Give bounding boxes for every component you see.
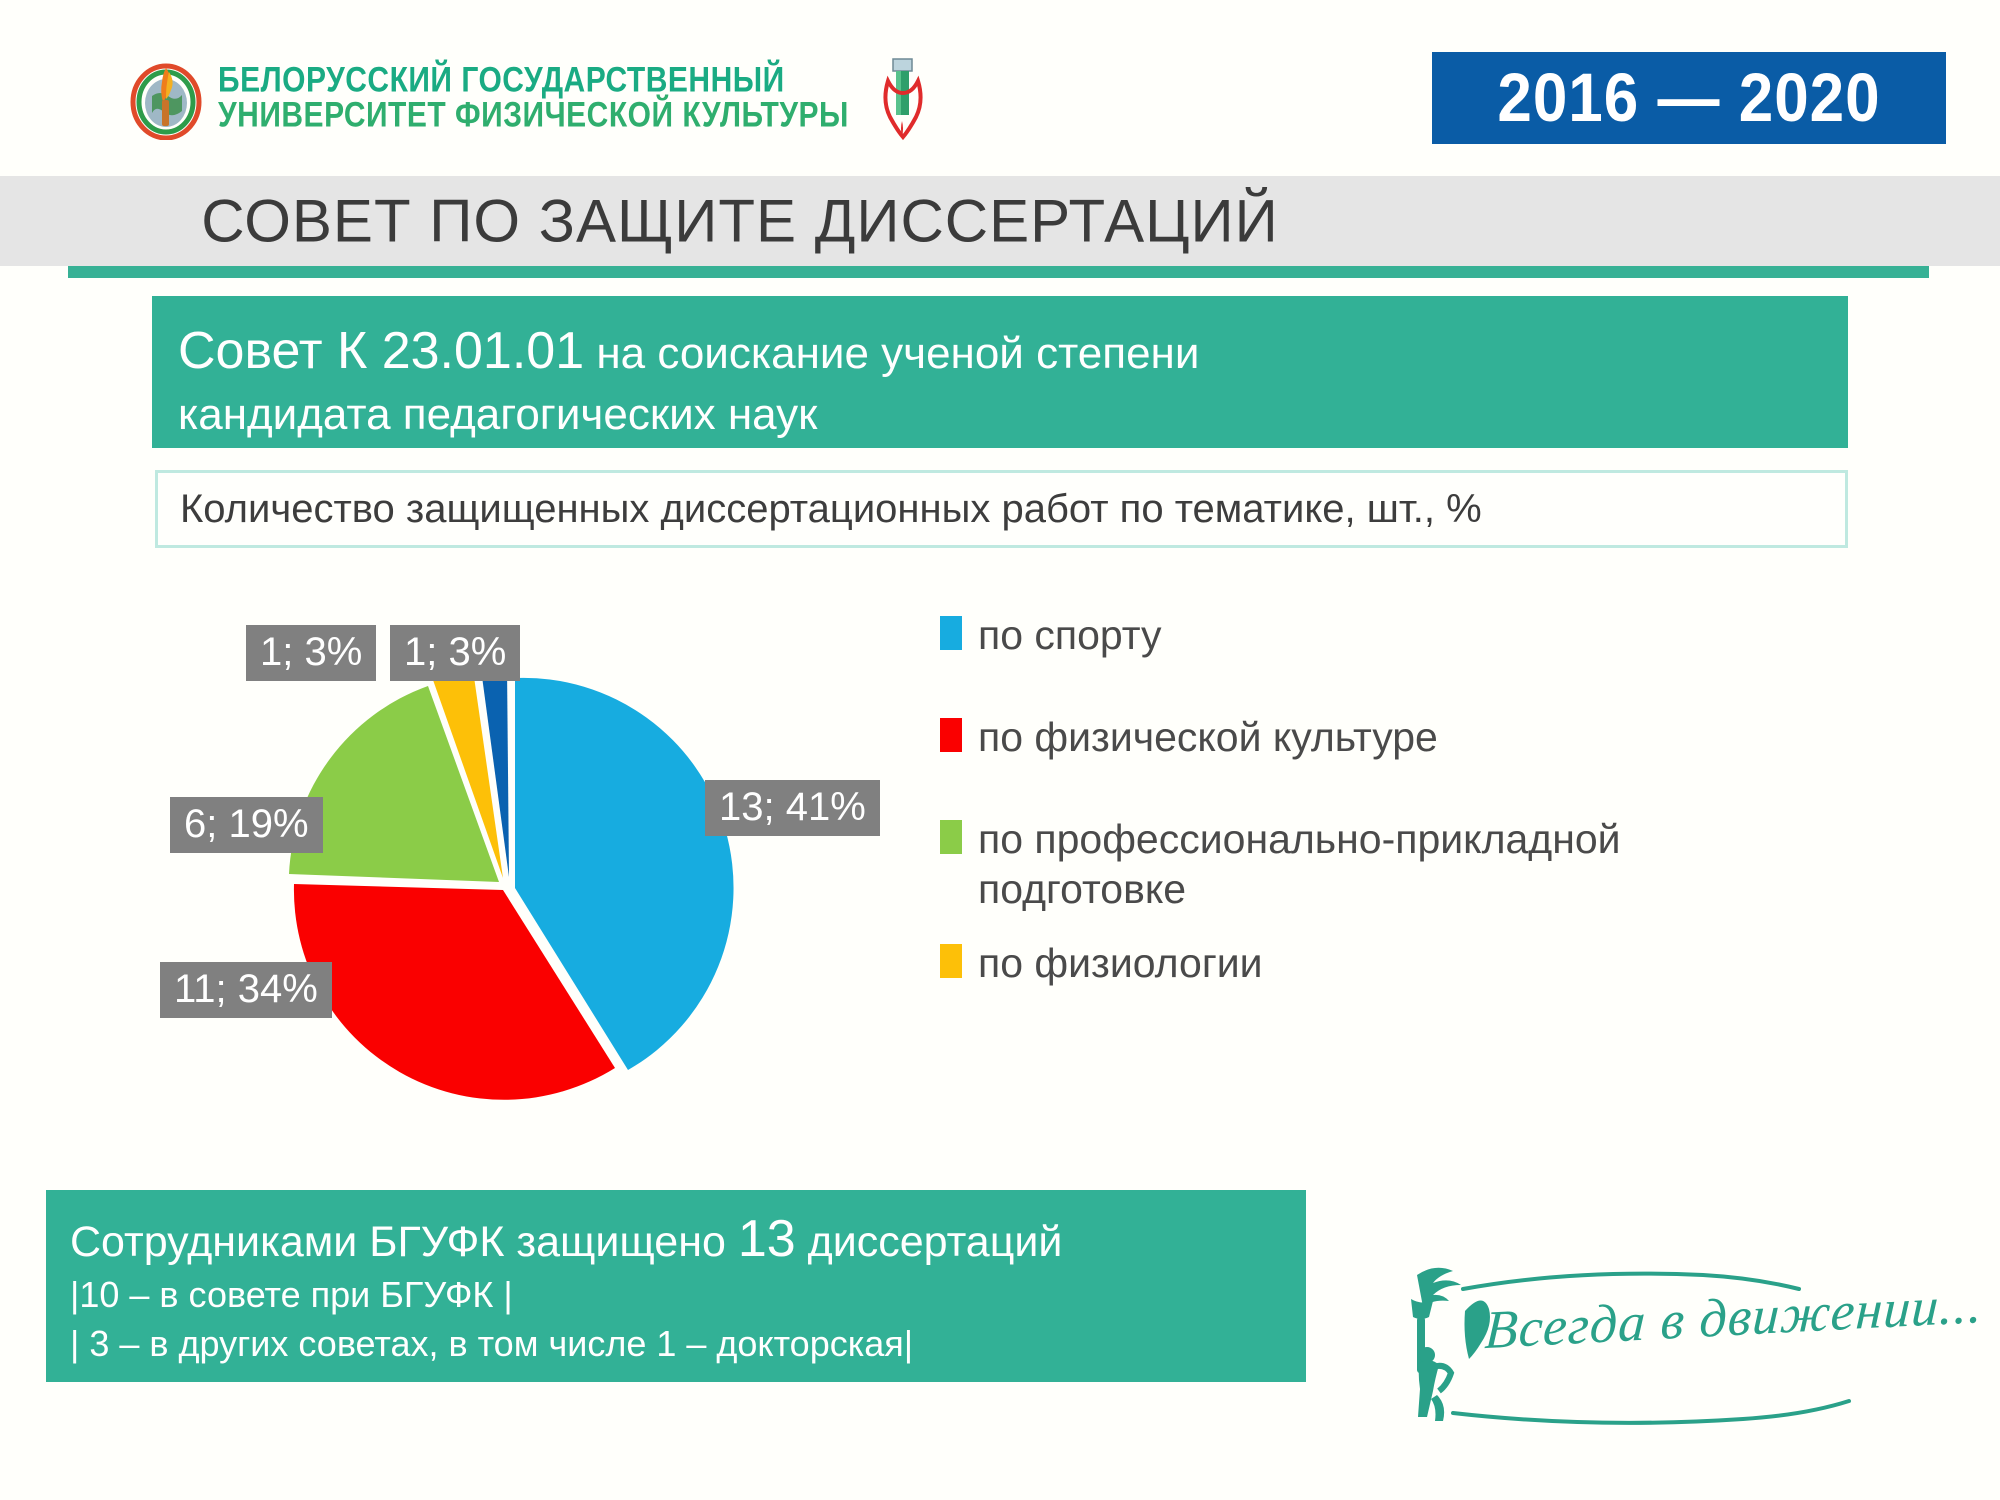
summary-line1: Сотрудниками БГУФК защищено 13 диссертац… [70, 1208, 1282, 1271]
summary-line1-prefix: Сотрудниками БГУФК защищено [70, 1218, 738, 1266]
legend-label-applied-training: по профессионально-прикладной подготовке [978, 814, 1800, 914]
pie-label-applied-training: 6; 19% [170, 797, 323, 853]
pie-label-other: 1; 3% [390, 625, 520, 681]
pie-chart-svg [260, 640, 780, 1100]
summary-count: 13 [738, 1210, 796, 1268]
chart-area: 13; 41% 11; 34% 6; 19% 1; 3% 1; 3% по сп… [150, 580, 1910, 1160]
years-badge: 2016 — 2020 [1432, 52, 1946, 144]
university-name-line1: БЕЛОРУССКИЙ ГОСУДАРСТВЕННЫЙ [218, 63, 849, 98]
slide-root: БЕЛОРУССКИЙ ГОСУДАРСТВЕННЫЙ УНИВЕРСИТЕТ … [0, 0, 2000, 1500]
legend-swatch-applied-training [940, 820, 962, 854]
page-title: СОВЕТ ПО ЗАЩИТЕ ДИССЕРТАЦИЙ [0, 187, 2000, 256]
summary-line3: | 3 – в других советах, в том числе 1 – … [70, 1320, 1282, 1369]
chart-caption-box: Количество защищенных диссертационных ра… [155, 470, 1848, 548]
council-code: Совет К 23.01.01 [178, 322, 584, 380]
legend-swatch-physical-culture [940, 718, 962, 752]
university-name: БЕЛОРУССКИЙ ГОСУДАРСТВЕННЫЙ УНИВЕРСИТЕТ … [218, 66, 849, 131]
legend-swatch-physiology [940, 944, 962, 978]
chart-legend: по спорту по физической культуре по проф… [940, 610, 1800, 988]
legend-item-physical-culture[interactable]: по физической культуре [940, 712, 1800, 762]
chart-caption: Количество защищенных диссертационных ра… [180, 487, 1482, 532]
summary-line2: |10 – в совете при БГУФК | [70, 1271, 1282, 1320]
legend-label-sport: по спорту [978, 610, 1162, 660]
pie-label-physical-culture: 11; 34% [160, 962, 332, 1018]
title-band: СОВЕТ ПО ЗАЩИТЕ ДИССЕРТАЦИЙ [0, 176, 2000, 266]
council-degree-text: на соискание ученой степени [584, 329, 1199, 378]
pie-chart [260, 640, 780, 1100]
legend-label-physiology: по физиологии [978, 938, 1263, 988]
slogan-logo: Всегда в движении... [1355, 1245, 1875, 1425]
council-statement-line1: Совет К 23.01.01 на соискание ученой сте… [178, 318, 1822, 386]
pie-label-sport: 13; 41% [705, 780, 880, 836]
belarus-flag-mark-icon [871, 55, 933, 141]
legend-swatch-sport [940, 616, 962, 650]
years-badge-label: 2016 — 2020 [1497, 59, 1880, 137]
university-name-line2: УНИВЕРСИТЕТ ФИЗИЧЕСКОЙ КУЛЬТУРЫ [218, 98, 849, 133]
legend-item-physiology[interactable]: по физиологии [940, 938, 1800, 988]
summary-line1-suffix: диссертаций [796, 1218, 1063, 1266]
legend-label-physical-culture: по физической культуре [978, 712, 1438, 762]
title-underline-rule [68, 266, 1929, 278]
legend-item-applied-training[interactable]: по профессионально-прикладной подготовке [940, 814, 1800, 914]
council-statement-box: Совет К 23.01.01 на соискание ученой сте… [152, 296, 1848, 448]
university-logo: БЕЛОРУССКИЙ ГОСУДАРСТВЕННЫЙ УНИВЕРСИТЕТ … [128, 52, 933, 144]
pie-label-physiology: 1; 3% [246, 625, 376, 681]
legend-item-sport[interactable]: по спорту [940, 610, 1800, 660]
university-emblem-icon [128, 56, 204, 140]
summary-box: Сотрудниками БГУФК защищено 13 диссертац… [46, 1190, 1306, 1382]
council-statement-line2: кандидата педагогических наук [178, 386, 1822, 443]
